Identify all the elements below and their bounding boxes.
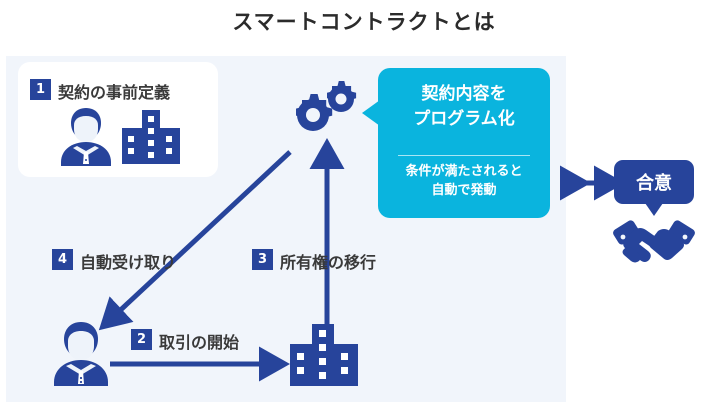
callout-sub-line-1: 条件が満たされると xyxy=(378,163,550,182)
step-1-label: 契約の事前定義 xyxy=(58,79,170,103)
page-title: スマートコントラクトとは xyxy=(0,6,728,36)
agreement-badge: 合意 xyxy=(614,160,694,204)
person-business-icon xyxy=(58,104,114,166)
office-building-icon-bottom xyxy=(288,322,360,388)
gears-icon xyxy=(276,78,362,148)
handshake-icon xyxy=(612,212,696,268)
diagram-stage: スマートコントラクトとは xyxy=(0,0,728,410)
step-4-badge: 4 xyxy=(52,249,73,270)
step-3-number: 3 xyxy=(258,253,267,266)
step-4-number: 4 xyxy=(58,253,67,266)
callout-sub-text: 条件が満たされると 自動で発動 xyxy=(378,163,550,201)
step-4-label: 自動受け取り xyxy=(80,249,176,273)
agreement-label: 合意 xyxy=(636,169,672,195)
step-3-badge: 3 xyxy=(252,249,273,270)
step-2-badge: 2 xyxy=(131,329,152,350)
step-1-badge: 1 xyxy=(30,79,51,100)
step-1-number: 1 xyxy=(36,83,45,96)
callout-main-line-2: プログラム化 xyxy=(378,107,550,132)
step-2-label: 取引の開始 xyxy=(159,329,239,353)
step-2-number: 2 xyxy=(137,333,146,346)
person-business-icon-bottom xyxy=(50,318,112,386)
step-3-label: 所有権の移行 xyxy=(280,249,376,273)
callout-main-line-1: 契約内容を xyxy=(378,82,550,107)
callout-main-text: 契約内容を プログラム化 xyxy=(378,82,550,131)
office-building-icon xyxy=(120,108,182,166)
program-callout: 契約内容を プログラム化 条件が満たされると 自動で発動 xyxy=(378,68,550,218)
callout-sub-line-2: 自動で発動 xyxy=(378,182,550,201)
callout-divider xyxy=(398,155,530,156)
